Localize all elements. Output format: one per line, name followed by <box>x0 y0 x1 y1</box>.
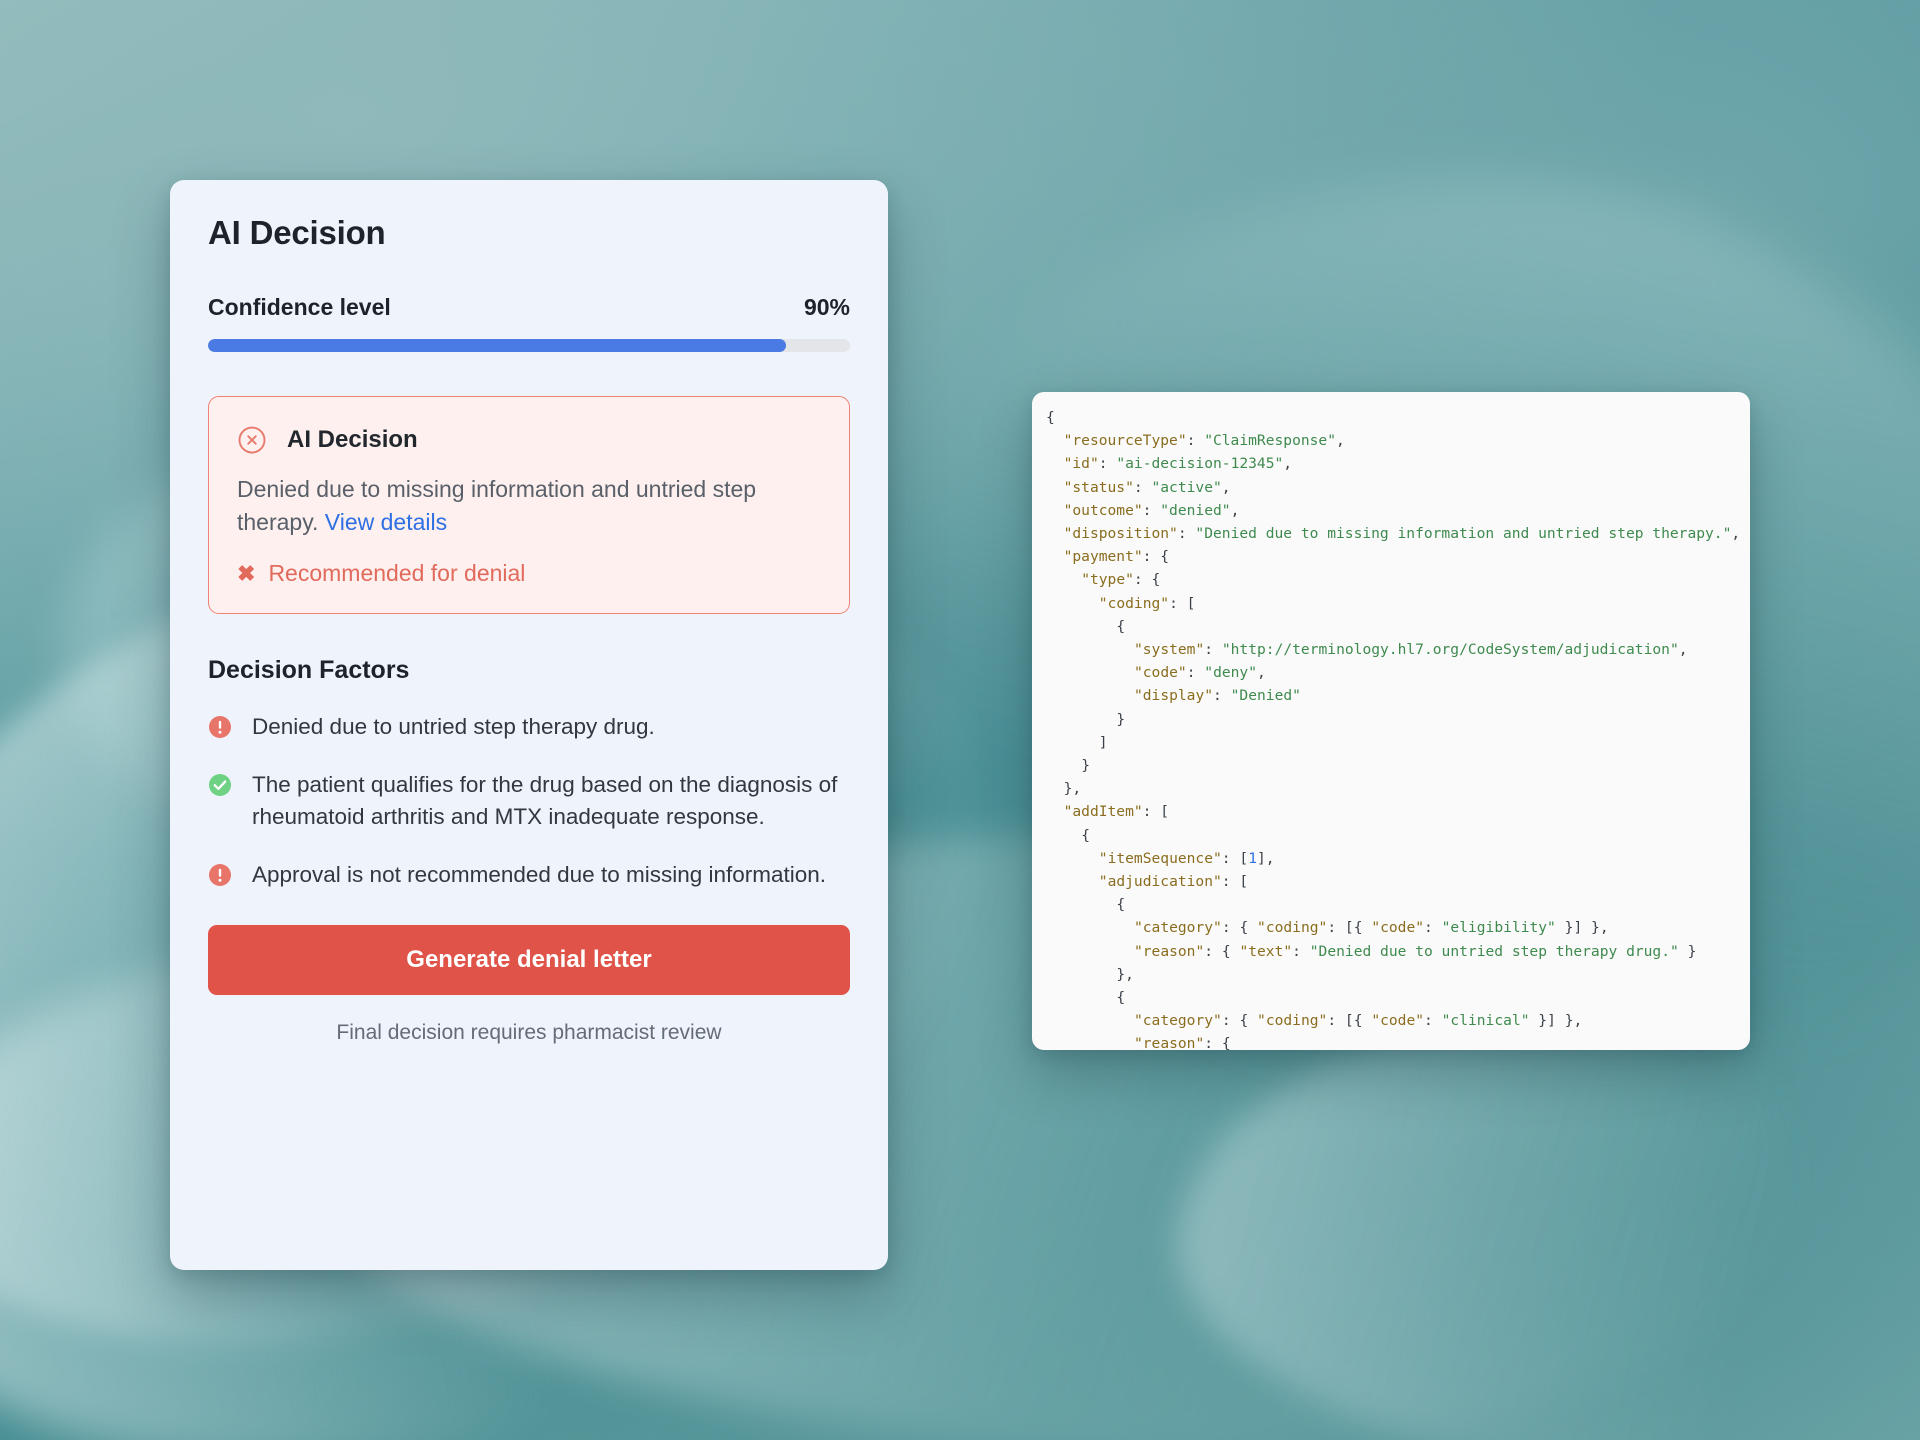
pharmacist-review-note: Final decision requires pharmacist revie… <box>208 1021 850 1045</box>
code-line: "payment": { <box>1046 545 1750 568</box>
x-mark-icon: ✖ <box>237 563 255 585</box>
code-line: { <box>1046 615 1750 638</box>
json-code-block: { "resourceType": "ClaimResponse", "id":… <box>1046 406 1750 1050</box>
desktop-background: AI Decision Confidence level 90% AI Deci… <box>0 0 1920 1440</box>
ai-decision-card: AI Decision Confidence level 90% AI Deci… <box>170 180 888 1270</box>
list-item-label: Approval is not recommended due to missi… <box>252 859 826 891</box>
list-item-label: Denied due to untried step therapy drug. <box>252 711 655 743</box>
x-circle-icon <box>237 425 267 455</box>
decision-factors-heading: Decision Factors <box>208 656 850 685</box>
code-line: { <box>1046 986 1750 1009</box>
code-line: } <box>1046 754 1750 777</box>
confidence-progress-bar <box>208 339 850 352</box>
fhir-json-panel[interactable]: { "resourceType": "ClaimResponse", "id":… <box>1032 392 1750 1050</box>
code-line: "itemSequence": [1], <box>1046 847 1750 870</box>
confidence-value: 90% <box>804 294 850 321</box>
alert-title: AI Decision <box>287 426 418 454</box>
code-line: "category": { "coding": [{ "code": "clin… <box>1046 1009 1750 1032</box>
code-line: }, <box>1046 963 1750 986</box>
list-item: The patient qualifies for the drug based… <box>208 769 850 833</box>
list-item: Denied due to untried step therapy drug. <box>208 711 850 743</box>
confidence-label: Confidence level <box>208 294 391 321</box>
list-item-label: The patient qualifies for the drug based… <box>252 769 850 833</box>
generate-denial-letter-button[interactable]: Generate denial letter <box>208 925 850 995</box>
alert-circle-icon <box>208 863 232 887</box>
alert-status-text: Recommended for denial <box>268 560 525 587</box>
code-line: } <box>1046 708 1750 731</box>
code-line: "code": "deny", <box>1046 661 1750 684</box>
code-line: ] <box>1046 731 1750 754</box>
code-line: { <box>1046 893 1750 916</box>
alert-status: ✖ Recommended for denial <box>237 560 819 587</box>
code-line: "reason": { "text": "Denied due to untri… <box>1046 940 1750 963</box>
list-item: Approval is not recommended due to missi… <box>208 859 850 891</box>
code-line: "coding": [ <box>1046 592 1750 615</box>
code-line: "id": "ai-decision-12345", <box>1046 452 1750 475</box>
code-line: "adjudication": [ <box>1046 870 1750 893</box>
code-line: "disposition": "Denied due to missing in… <box>1046 522 1750 545</box>
code-line: "resourceType": "ClaimResponse", <box>1046 429 1750 452</box>
view-details-link[interactable]: View details <box>325 509 447 535</box>
alert-header: AI Decision <box>237 425 819 455</box>
code-line: "category": { "coding": [{ "code": "elig… <box>1046 916 1750 939</box>
page-title: AI Decision <box>208 214 850 252</box>
code-line: "type": { <box>1046 568 1750 591</box>
code-line: "addItem": [ <box>1046 800 1750 823</box>
confidence-row: Confidence level 90% <box>208 294 850 321</box>
check-circle-icon <box>208 773 232 797</box>
code-line: "status": "active", <box>1046 476 1750 499</box>
code-line: "outcome": "denied", <box>1046 499 1750 522</box>
alert-body-text: Denied due to missing information and un… <box>237 476 756 535</box>
ai-decision-alert: AI Decision Denied due to missing inform… <box>208 396 850 614</box>
alert-body: Denied due to missing information and un… <box>237 473 819 538</box>
alert-circle-icon <box>208 715 232 739</box>
code-line: "display": "Denied" <box>1046 684 1750 707</box>
code-line: { <box>1046 406 1750 429</box>
code-line: { <box>1046 824 1750 847</box>
code-line: }, <box>1046 777 1750 800</box>
confidence-progress-fill <box>208 339 786 352</box>
code-line: "reason": { <box>1046 1032 1750 1050</box>
code-line: "system": "http://terminology.hl7.org/Co… <box>1046 638 1750 661</box>
